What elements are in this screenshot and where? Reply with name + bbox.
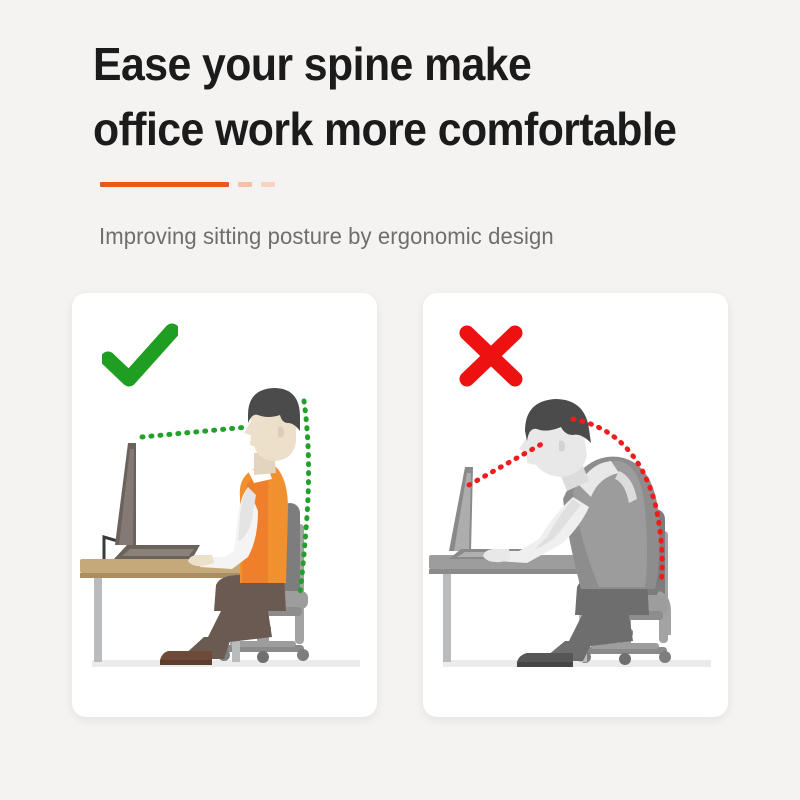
floor-line: [92, 660, 360, 667]
divider-dash-2: [261, 182, 275, 187]
page-subtitle: Improving sitting posture by ergonomic d…: [99, 223, 554, 250]
card-good-posture: [72, 293, 377, 717]
accent-divider: [100, 182, 275, 187]
divider-bar: [100, 182, 229, 187]
bad-posture-illustration: [423, 379, 728, 717]
spine-line-good: [300, 401, 309, 593]
poster-page: Ease your spine make office work more co…: [0, 0, 800, 800]
floor-line: [443, 660, 711, 667]
laptop: [449, 467, 535, 559]
comparison-cards: [0, 293, 800, 718]
sight-line-good: [142, 427, 248, 437]
good-posture-illustration: [72, 379, 377, 717]
laptop: [114, 443, 200, 559]
header: Ease your spine make office work more co…: [93, 32, 783, 163]
divider-dash-1: [238, 182, 252, 187]
card-bad-posture: [423, 293, 728, 717]
page-title: Ease your spine make office work more co…: [93, 32, 735, 163]
